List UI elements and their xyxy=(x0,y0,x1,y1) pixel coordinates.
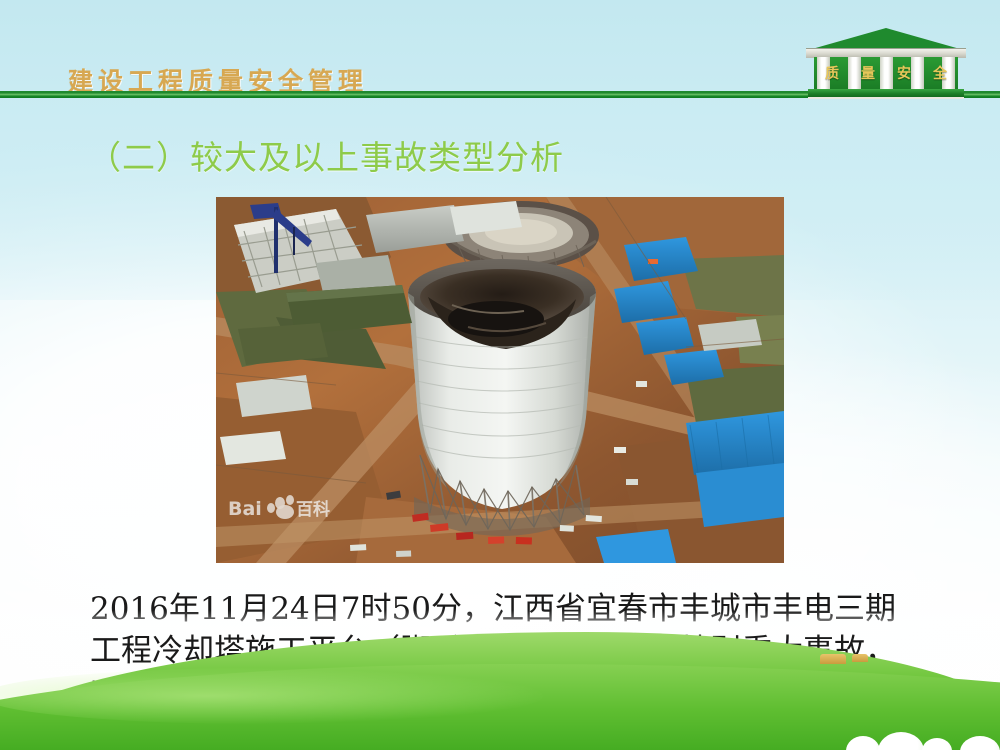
svg-text:百科: 百科 xyxy=(296,499,330,520)
hut-icon xyxy=(852,654,868,662)
grass-highlight xyxy=(0,668,543,724)
logo-base xyxy=(808,89,964,99)
logo-body xyxy=(814,57,958,89)
svg-text:Bai: Bai xyxy=(228,498,262,520)
accident-site-photo-image: Bai 百科 xyxy=(216,197,784,563)
logo-column-icon xyxy=(817,57,830,89)
logo-column-icon xyxy=(848,57,861,89)
section-heading: （二）较大及以上事故类型分析 xyxy=(88,131,564,179)
logo-column-icon xyxy=(880,57,893,89)
grass-field-decoration xyxy=(0,610,1000,750)
presentation-slide: 建设工程质量安全管理 质 量 安 全 （二）较大及以上事故类型分析 xyxy=(0,0,1000,750)
grass-horizon-fade xyxy=(0,610,1000,636)
logo-column-icon xyxy=(911,57,924,89)
hut-icon xyxy=(820,654,846,664)
quality-safety-temple-logo: 质 量 安 全 xyxy=(806,28,966,100)
logo-roof-icon xyxy=(812,28,960,49)
logo-column-icon xyxy=(942,57,955,89)
accident-site-photo: Bai 百科 xyxy=(216,197,784,563)
